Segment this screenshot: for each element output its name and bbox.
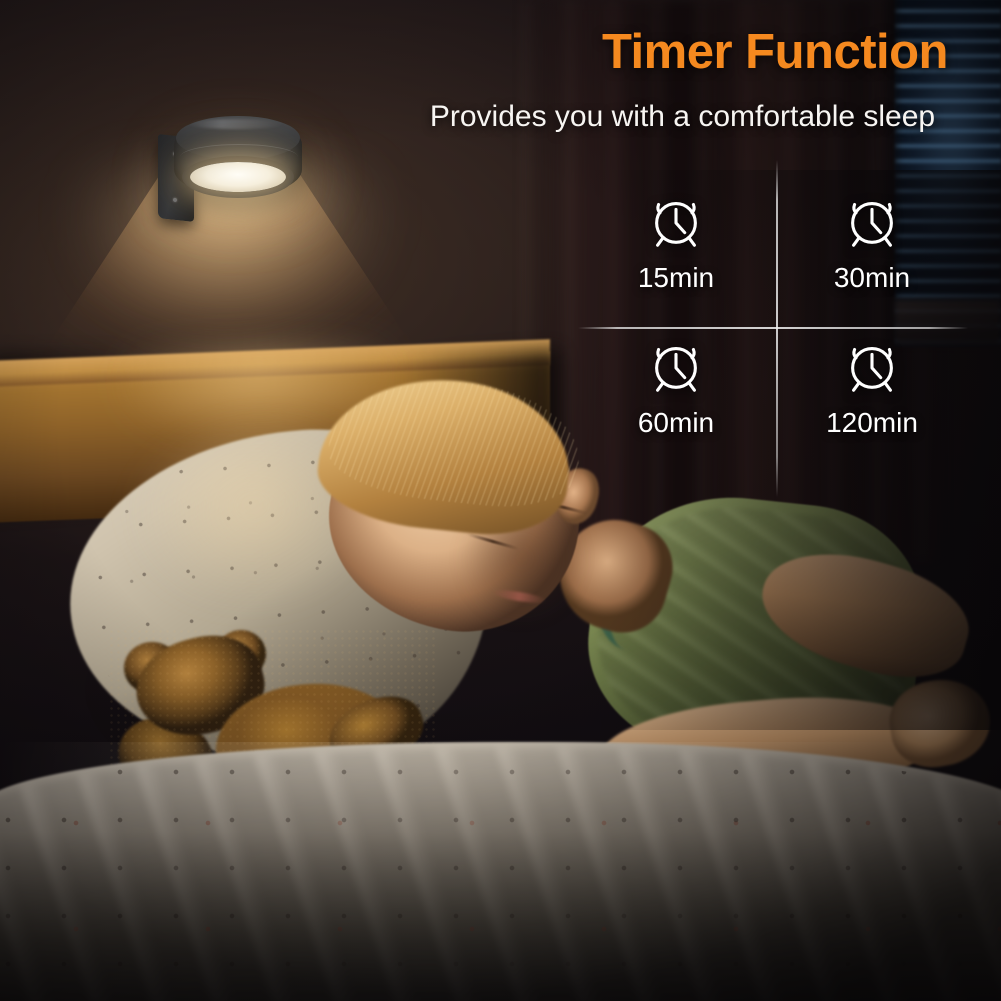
alarm-clock-icon — [841, 190, 903, 252]
page-title: Timer Function — [555, 24, 995, 80]
alarm-clock-icon — [645, 190, 707, 252]
timer-option-label: 120min — [826, 407, 918, 439]
alarm-clock-icon — [645, 335, 707, 397]
timer-option-60min[interactable]: 60min — [578, 335, 774, 480]
timer-option-30min[interactable]: 30min — [774, 190, 970, 335]
timer-options-grid: 15min 30min — [578, 190, 970, 480]
alarm-clock-icon — [841, 335, 903, 397]
timer-option-label: 30min — [834, 262, 910, 294]
product-feature-banner: Timer Function Provides you with a comfo… — [0, 0, 1001, 1001]
page-subtitle: Provides you with a comfortable sleep — [370, 100, 995, 134]
text-overlay: Timer Function Provides you with a comfo… — [0, 0, 1001, 1001]
timer-option-120min[interactable]: 120min — [774, 335, 970, 480]
timer-option-label: 60min — [638, 407, 714, 439]
timer-option-label: 15min — [638, 262, 714, 294]
timer-option-15min[interactable]: 15min — [578, 190, 774, 335]
